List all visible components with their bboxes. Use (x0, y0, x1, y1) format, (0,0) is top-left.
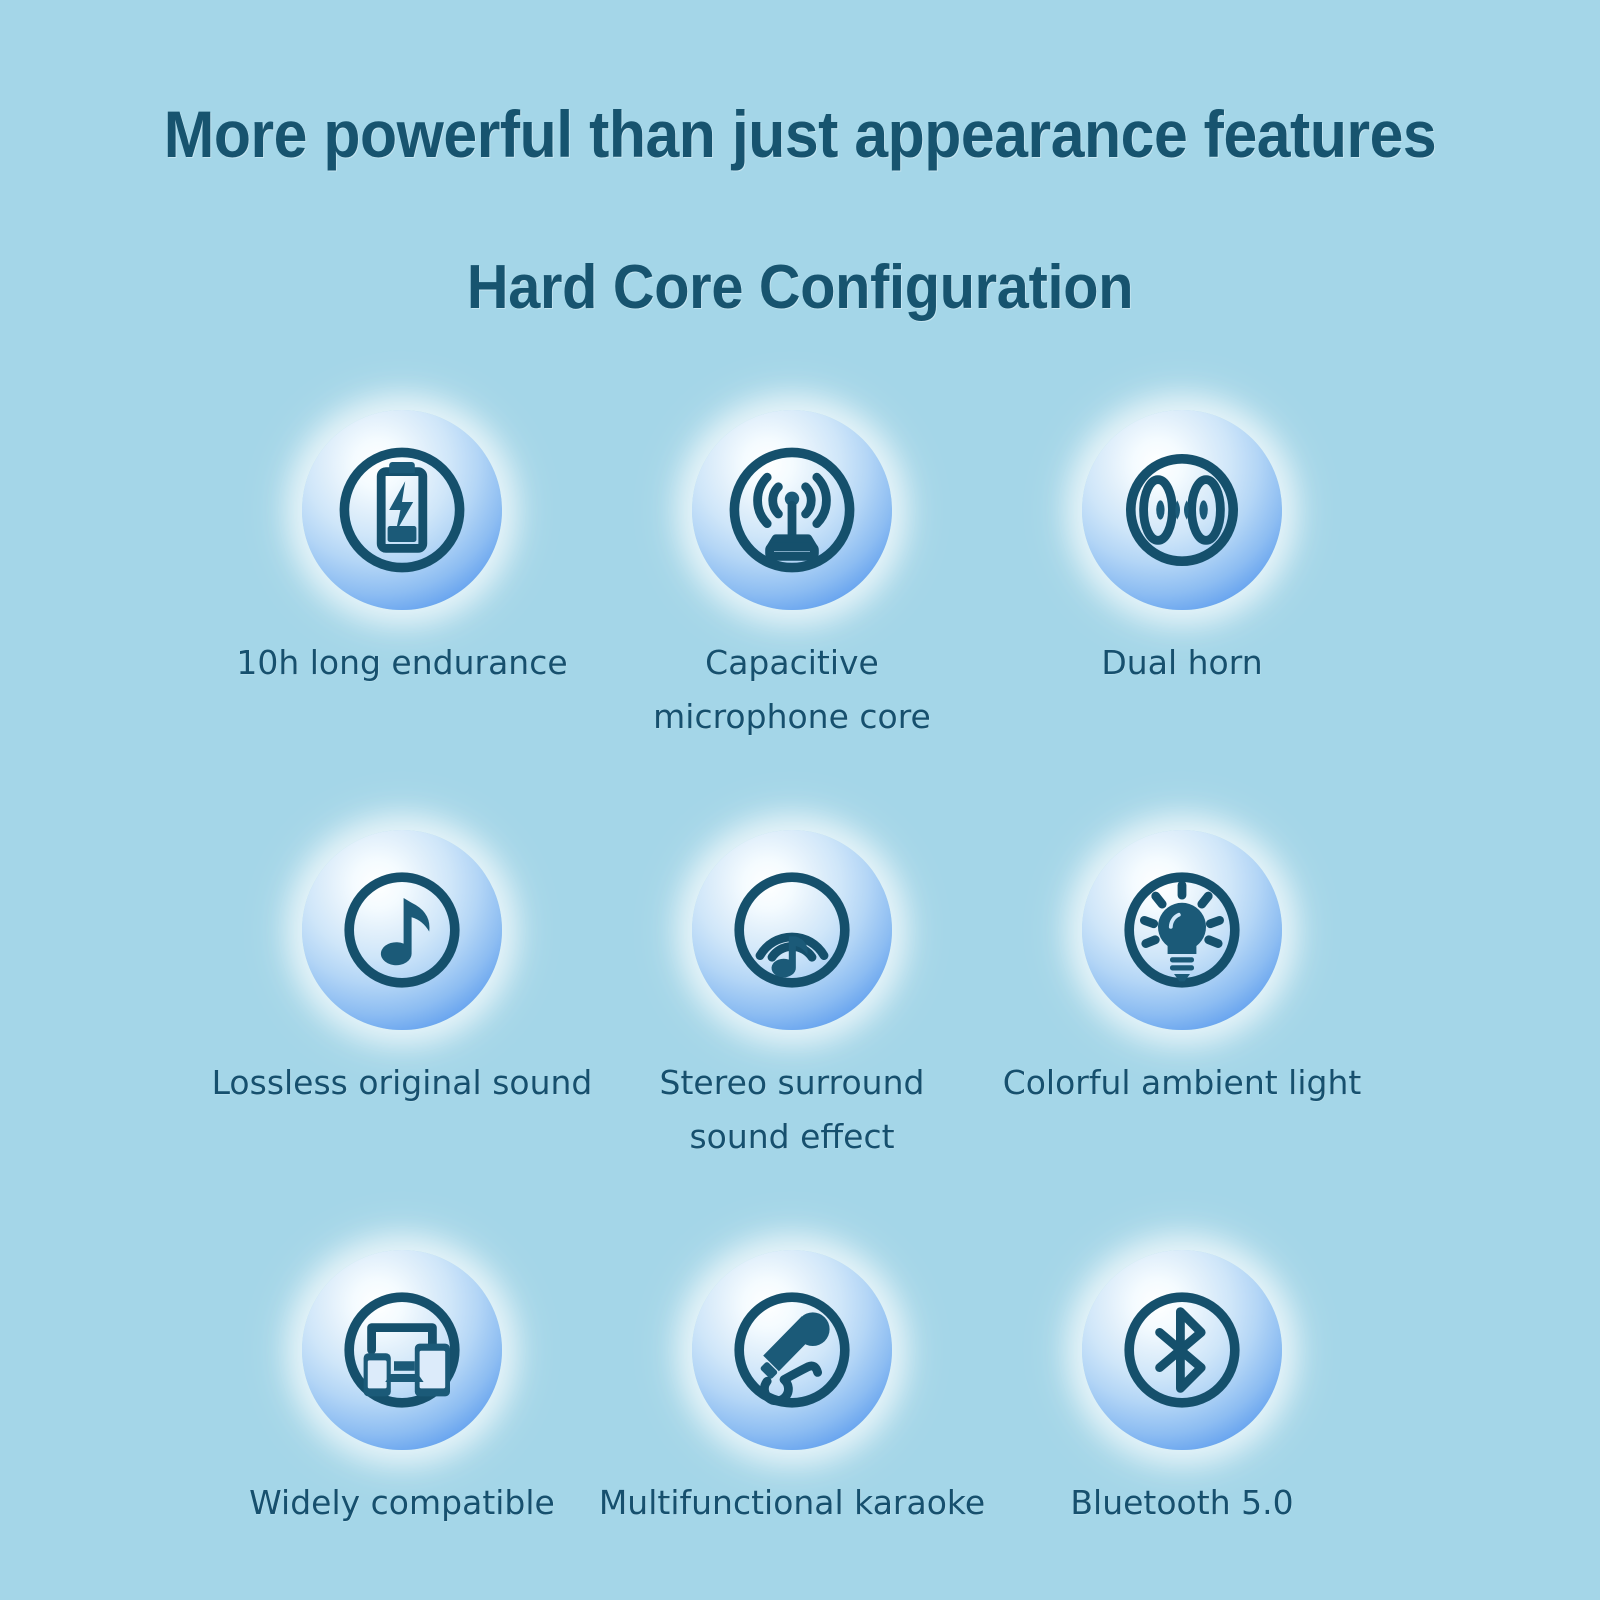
surround-sound-waves-note-icon (712, 850, 872, 1010)
icon-sphere (592, 400, 992, 630)
sphere-background (1082, 1250, 1282, 1450)
feature-label: Bluetooth 5.0 (982, 1476, 1382, 1530)
feature-label: 10h long endurance (202, 636, 602, 690)
feature-item-battery: 10h long endurance (202, 400, 602, 630)
light-bulb-icon (1102, 850, 1262, 1010)
icon-sphere (982, 1240, 1382, 1470)
feature-item-capacitive-microphone: Capacitive microphone core (592, 400, 992, 630)
label-line: Multifunctional karaoke (592, 1476, 992, 1530)
feature-grid: 10h long endurance (0, 400, 1600, 1600)
icon-sphere (982, 400, 1382, 630)
icon-sphere (592, 820, 992, 1050)
feature-item-dual-horn: Dual horn (982, 400, 1382, 630)
icon-sphere (202, 820, 602, 1050)
label-line: Colorful ambient light (982, 1056, 1382, 1110)
sphere-background (692, 1250, 892, 1450)
label-line: sound effect (592, 1110, 992, 1164)
bluetooth-icon (1102, 1270, 1262, 1430)
label-line: Widely compatible (202, 1476, 602, 1530)
label-line: microphone core (592, 690, 992, 744)
label-line: Lossless original sound (202, 1056, 602, 1110)
sphere-background (1082, 410, 1282, 610)
page-title: More powerful than just appearance featu… (64, 96, 1536, 172)
multi-device-compatibility-icon (322, 1270, 482, 1430)
sphere-background (302, 410, 502, 610)
feature-label: Dual horn (982, 636, 1382, 690)
music-note-icon (322, 850, 482, 1010)
feature-item-lossless-sound: Lossless original sound (202, 820, 602, 1050)
icon-sphere (982, 820, 1382, 1050)
feature-label: Stereo surround sound effect (592, 1056, 992, 1164)
feature-label: Multifunctional karaoke (592, 1476, 992, 1530)
icon-sphere (202, 400, 602, 630)
handheld-karaoke-microphone-icon (712, 1270, 872, 1430)
sphere-background (692, 410, 892, 610)
feature-label: Capacitive microphone core (592, 636, 992, 744)
feature-label: Lossless original sound (202, 1056, 602, 1110)
feature-item-widely-compatible: Widely compatible (202, 1240, 602, 1470)
label-line: Stereo surround (592, 1056, 992, 1110)
feature-item-bluetooth: Bluetooth 5.0 (982, 1240, 1382, 1470)
label-line: Dual horn (982, 636, 1382, 690)
sphere-background (302, 1250, 502, 1450)
label-line: 10h long endurance (202, 636, 602, 690)
battery-charging-icon (322, 430, 482, 590)
sphere-background (1082, 830, 1282, 1030)
icon-sphere (592, 1240, 992, 1470)
feature-infographic-page: More powerful than just appearance featu… (0, 0, 1600, 1600)
capacitive-microphone-antenna-icon (712, 430, 872, 590)
feature-label: Colorful ambient light (982, 1056, 1382, 1110)
label-line: Bluetooth 5.0 (982, 1476, 1382, 1530)
feature-item-ambient-light: Colorful ambient light (982, 820, 1382, 1050)
feature-label: Widely compatible (202, 1476, 602, 1530)
label-line: Capacitive (592, 636, 992, 690)
feature-item-karaoke: Multifunctional karaoke (592, 1240, 992, 1470)
feature-item-stereo-surround: Stereo surround sound effect (592, 820, 992, 1050)
dual-speaker-horn-icon (1102, 430, 1262, 590)
sphere-background (302, 830, 502, 1030)
icon-sphere (202, 1240, 602, 1470)
sphere-background (692, 830, 892, 1030)
page-subtitle: Hard Core Configuration (56, 252, 1544, 323)
